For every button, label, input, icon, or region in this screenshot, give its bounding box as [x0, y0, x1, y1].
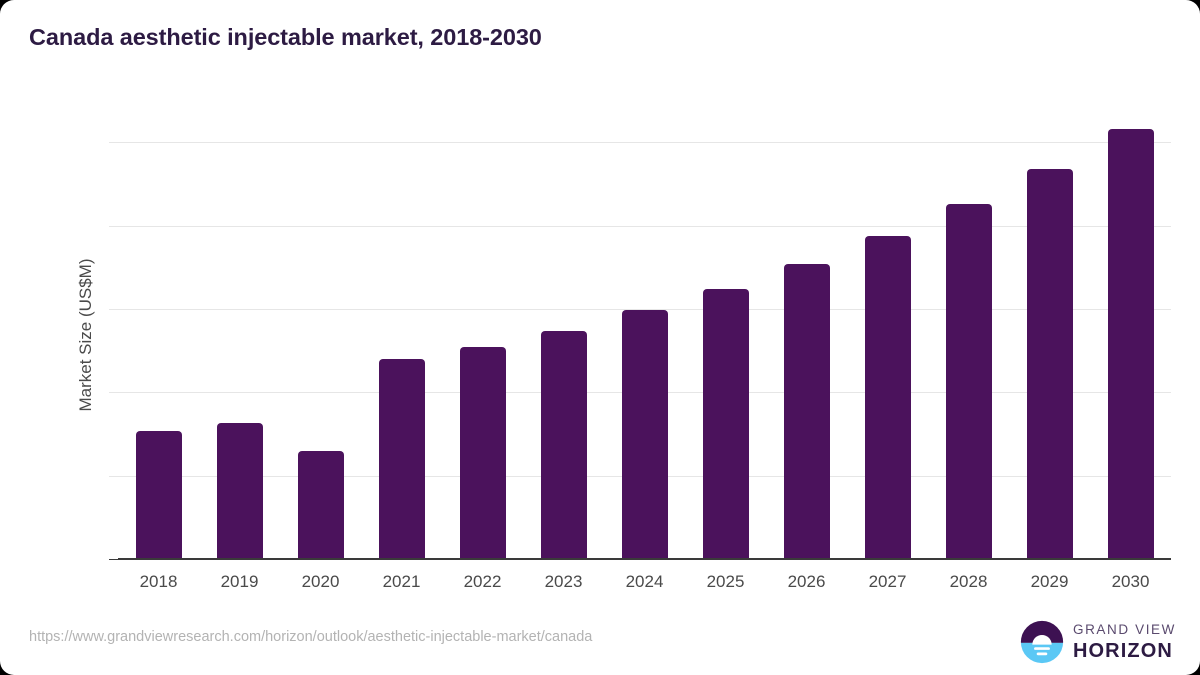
- logo-line-grand-view: GRAND VIEW: [1073, 623, 1176, 637]
- x-tick-label-2024: 2024: [600, 572, 690, 592]
- bar-2030[interactable]: [1108, 129, 1154, 559]
- y-tick-mark: [109, 476, 118, 477]
- bar-2021[interactable]: [379, 359, 425, 559]
- y-tick-mark: [109, 142, 118, 143]
- bar-2018[interactable]: [136, 431, 182, 559]
- bar-2027[interactable]: [865, 236, 911, 559]
- x-tick-label-2030: 2030: [1086, 572, 1176, 592]
- horizon-sunrise-logo-icon: [1020, 620, 1064, 664]
- x-tick-label-2026: 2026: [762, 572, 852, 592]
- source-url[interactable]: https://www.grandviewresearch.com/horizo…: [29, 629, 592, 645]
- x-tick-label-2021: 2021: [357, 572, 447, 592]
- logo-wordmark: GRAND VIEW HORIZON: [1073, 623, 1176, 662]
- y-tick-mark: [109, 226, 118, 227]
- y-tick-mark: [109, 309, 118, 310]
- x-tick-label-2019: 2019: [195, 572, 285, 592]
- plot-area: 02004006008001000 Market Size (US$M) 201…: [118, 110, 1171, 560]
- bar-2026[interactable]: [784, 264, 830, 559]
- bar-2020[interactable]: [298, 451, 344, 559]
- bar-2023[interactable]: [541, 331, 587, 559]
- brand-logo: GRAND VIEW HORIZON: [1020, 620, 1176, 664]
- logo-line-horizon: HORIZON: [1073, 641, 1176, 661]
- bars-layer: [118, 110, 1171, 560]
- x-tick-label-2018: 2018: [114, 572, 204, 592]
- page-title: Canada aesthetic injectable market, 2018…: [29, 24, 542, 51]
- bar-2028[interactable]: [946, 204, 992, 559]
- x-tick-label-2028: 2028: [924, 572, 1014, 592]
- x-tick-label-2029: 2029: [1005, 572, 1095, 592]
- bar-2022[interactable]: [460, 347, 506, 559]
- y-tick-mark: [109, 392, 118, 393]
- x-tick-label-2020: 2020: [276, 572, 366, 592]
- x-tick-label-2025: 2025: [681, 572, 771, 592]
- chart-card: Canada aesthetic injectable market, 2018…: [0, 0, 1200, 675]
- bar-2024[interactable]: [622, 310, 668, 559]
- y-axis-title: Market Size (US$M): [76, 258, 96, 411]
- x-tick-label-2022: 2022: [438, 572, 528, 592]
- bar-2019[interactable]: [217, 423, 263, 559]
- x-tick-label-2023: 2023: [519, 572, 609, 592]
- y-tick-mark: [109, 559, 118, 560]
- bar-2025[interactable]: [703, 289, 749, 559]
- x-tick-label-2027: 2027: [843, 572, 933, 592]
- x-axis-line: [118, 558, 1171, 560]
- bar-2029[interactable]: [1027, 169, 1073, 559]
